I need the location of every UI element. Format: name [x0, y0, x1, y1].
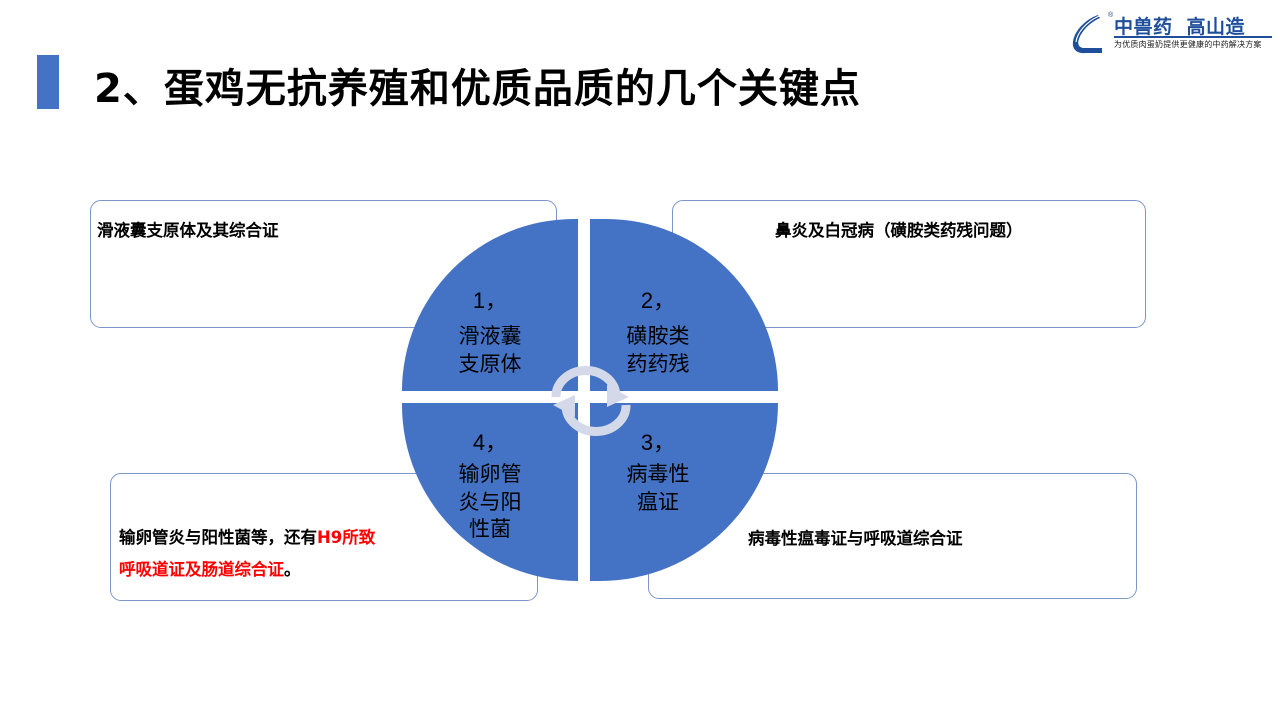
quadrant-4-label: 输卵管炎与阳性菌 — [402, 461, 578, 544]
logo-brand-text: 中兽药高山造 — [1114, 12, 1245, 39]
logo-divider — [1114, 36, 1272, 38]
quadrant-3-number: 3， — [590, 425, 752, 457]
logo-brand-part1: 中兽药 — [1114, 16, 1173, 38]
quadrant-3[interactable]: 3， 病毒性瘟证 — [590, 403, 778, 581]
callout-label-top-right: 鼻炎及白冠病（磺胺类药残问题） — [775, 216, 1023, 247]
quadrant-2[interactable]: 2， 磺胺类药药残 — [590, 219, 778, 391]
callout-label-top-left: 滑液囊支原体及其综合证 — [97, 216, 279, 247]
callout-label-bottom-left: 输卵管炎与阳性菌等，还有H9所致 呼吸道证及肠道综合证。 — [119, 522, 375, 586]
quadrant-4[interactable]: 4， 输卵管炎与阳性菌 — [402, 403, 578, 581]
page-title: 2、蛋鸡无抗养殖和优质品质的几个关键点 — [94, 56, 861, 114]
logo-brand-part2: 高山造 — [1187, 16, 1246, 38]
slide-canvas: ® 中兽药高山造 为优质肉蛋奶提供更健康的中药解决方案 2、蛋鸡无抗养殖和优质品… — [0, 0, 1280, 720]
quadrant-1[interactable]: 1， 滑液囊支原体 — [402, 219, 578, 391]
registered-mark: ® — [1108, 12, 1113, 19]
title-accent-bar — [37, 55, 59, 109]
quadrant-4-number: 4， — [402, 425, 578, 457]
quadrant-1-label: 滑液囊支原体 — [402, 323, 578, 378]
quadrant-1-number: 1， — [402, 283, 578, 315]
callout-bl-line2-red: 呼吸道证及肠道综合证 — [119, 560, 284, 579]
logo-tagline: 为优质肉蛋奶提供更健康的中药解决方案 — [1114, 39, 1262, 50]
quadrant-2-number: 2， — [590, 283, 752, 315]
logo-mark-icon — [1068, 12, 1110, 58]
callout-bl-line2-black: 。 — [284, 560, 301, 579]
quadrant-3-label: 病毒性瘟证 — [590, 461, 752, 516]
quadrant-2-label: 磺胺类药药残 — [590, 323, 752, 378]
brand-logo: ® 中兽药高山造 为优质肉蛋奶提供更健康的中药解决方案 — [1068, 8, 1272, 60]
callout-bl-line2: 呼吸道证及肠道综合证。 — [119, 554, 375, 586]
callout-label-bottom-right: 病毒性瘟毒证与呼吸道综合证 — [748, 524, 963, 555]
callout-bl-line1-red: H9所致 — [317, 528, 375, 547]
quadrant-circle-diagram: 1， 滑液囊支原体 2， 磺胺类药药残 3， 病毒性瘟证 4， 输卵管炎与阳性菌 — [402, 219, 778, 581]
callout-bl-line1-black: 输卵管炎与阳性菌等，还有 — [119, 528, 317, 547]
callout-bl-line1: 输卵管炎与阳性菌等，还有H9所致 — [119, 522, 375, 554]
